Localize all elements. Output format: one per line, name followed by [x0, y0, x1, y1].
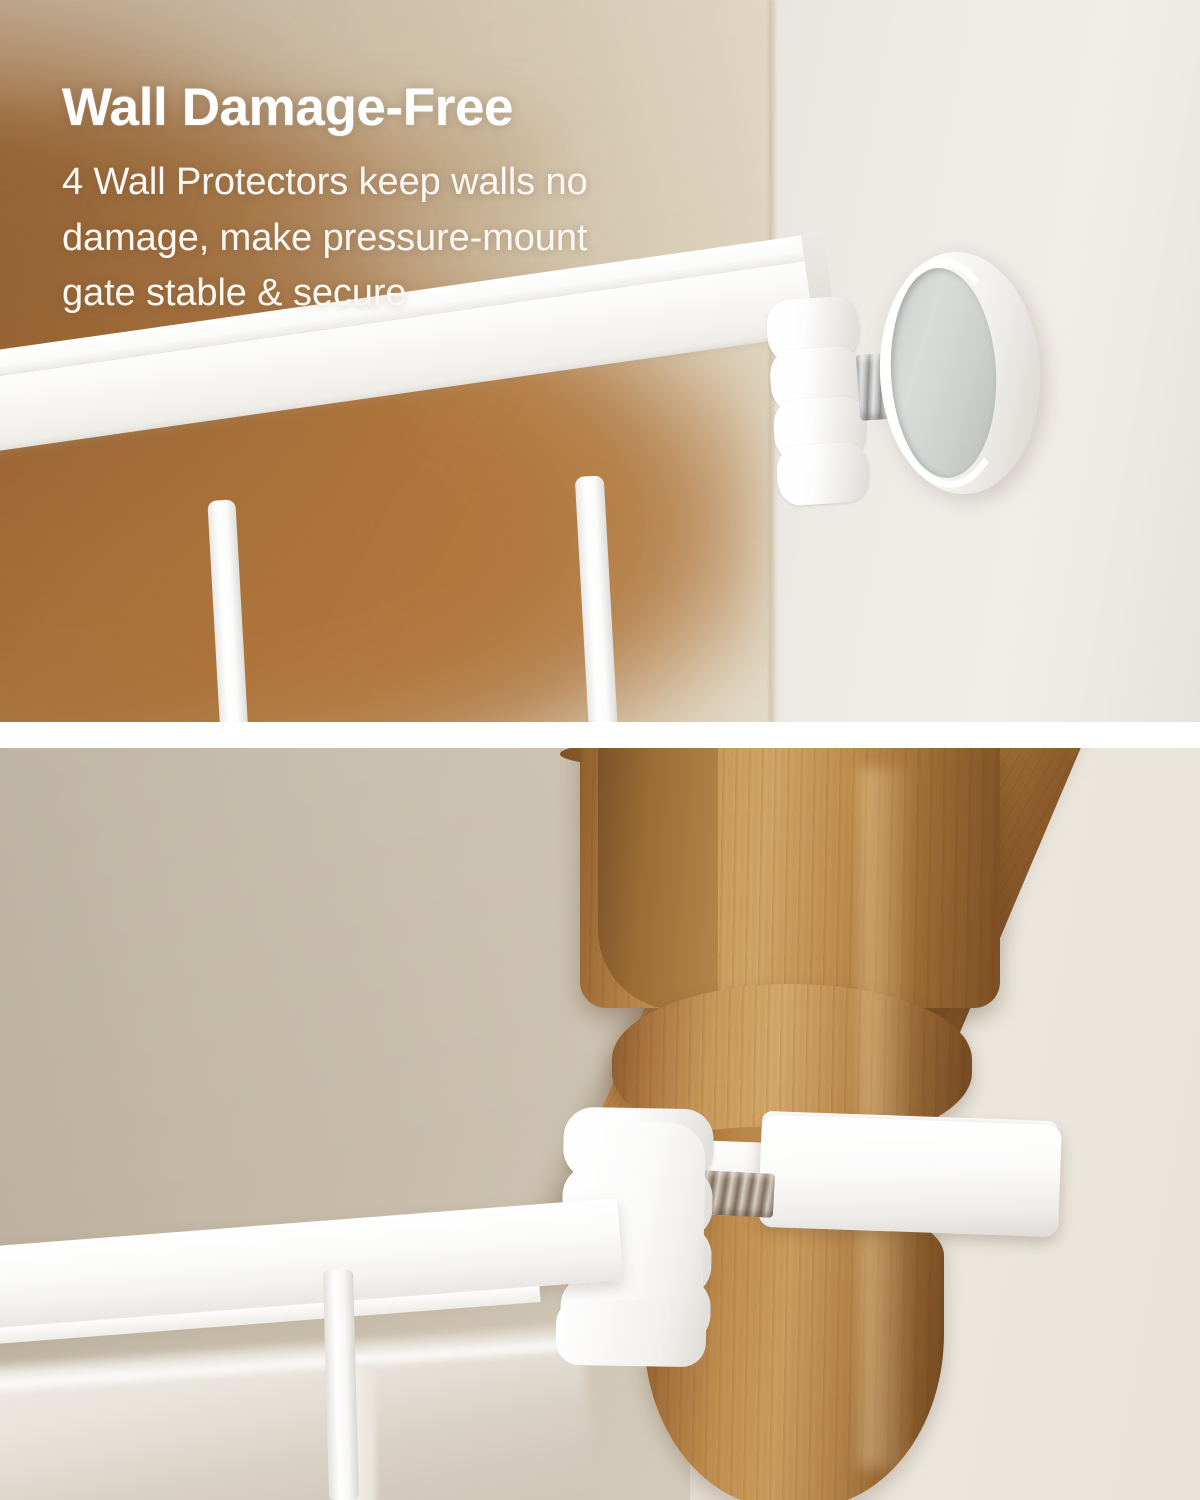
body-line: 4 Wall Protectors keep walls no — [62, 155, 782, 211]
product-feature-page: Wall Damage-Free 4 Wall Protectors keep … — [0, 0, 1200, 1500]
panel-divider — [0, 722, 1200, 748]
copy-block-top: Wall Damage-Free 4 Wall Protectors keep … — [62, 80, 782, 322]
body-copy-top: 4 Wall Protectors keep walls no damage, … — [62, 155, 782, 323]
knob-lobe — [775, 441, 871, 507]
panel-wall-damage-free: Wall Damage-Free 4 Wall Protectors keep … — [0, 0, 1200, 722]
y-spindle-bracket — [758, 1115, 1062, 1237]
thumb-knob-lower — [555, 1299, 706, 1368]
body-line: damage, make pressure-mount — [62, 211, 782, 267]
gate-vertical-bar — [323, 1270, 359, 1500]
newel-column-left-round — [598, 748, 718, 1010]
body-line: gate stable & secure — [62, 266, 782, 322]
newel-column-segment — [580, 748, 1000, 1008]
thumb-knob — [765, 295, 871, 507]
page-title: Wall Damage-Free — [62, 80, 782, 137]
